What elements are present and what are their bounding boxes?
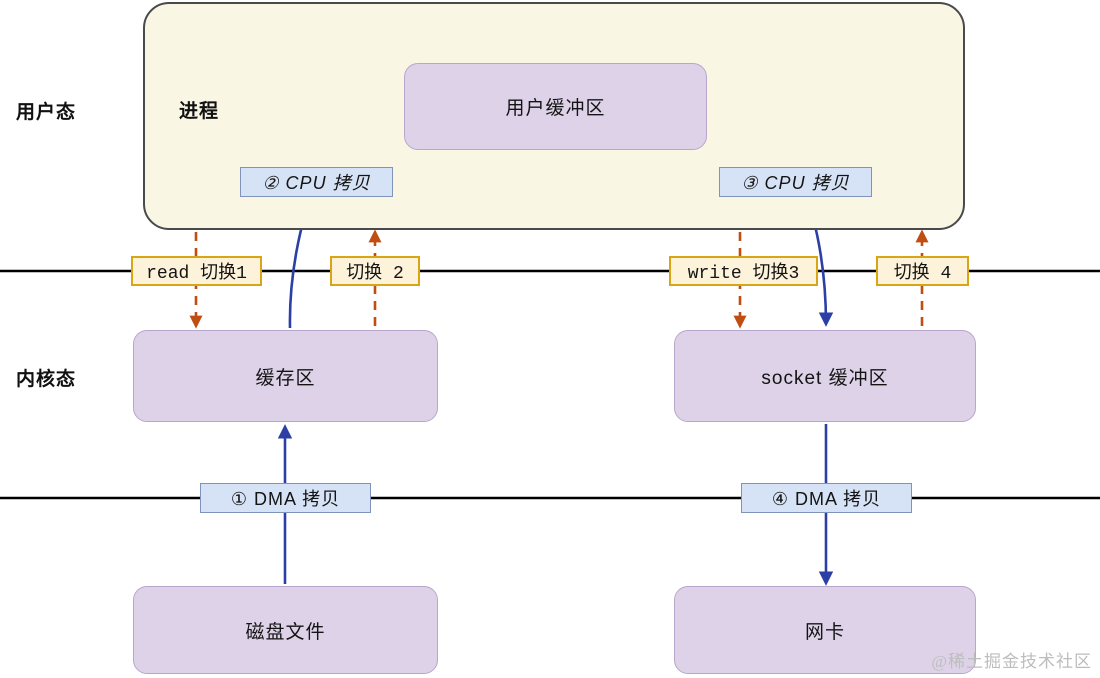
tag-switch-4: 切换 4	[876, 256, 969, 286]
tag-dma-copy-4: ④ DMA 拷贝	[741, 483, 912, 513]
label-kernel-mode: 内核态	[16, 364, 76, 391]
process-title: 进程	[179, 96, 219, 123]
box-socket-buffer[interactable]: socket 缓冲区	[674, 330, 976, 422]
diagram-canvas: 用户态 内核态 进程 用户缓冲区 缓存区 socket 缓冲区 磁盘文件 网卡 …	[0, 0, 1100, 678]
tag-cpu-copy-3: ③ CPU 拷贝	[719, 167, 872, 197]
label-user-mode: 用户态	[16, 97, 76, 124]
tag-switch-3: write 切换3	[669, 256, 818, 286]
tag-dma-copy-1: ① DMA 拷贝	[200, 483, 371, 513]
box-user-buffer[interactable]: 用户缓冲区	[404, 63, 707, 150]
watermark: @稀土掘金技术社区	[931, 647, 1092, 672]
box-disk-file[interactable]: 磁盘文件	[133, 586, 438, 674]
tag-switch-2: 切换 2	[330, 256, 420, 286]
box-kernel-buffer[interactable]: 缓存区	[133, 330, 438, 422]
tag-cpu-copy-2: ② CPU 拷贝	[240, 167, 393, 197]
tag-switch-1: read 切换1	[131, 256, 262, 286]
